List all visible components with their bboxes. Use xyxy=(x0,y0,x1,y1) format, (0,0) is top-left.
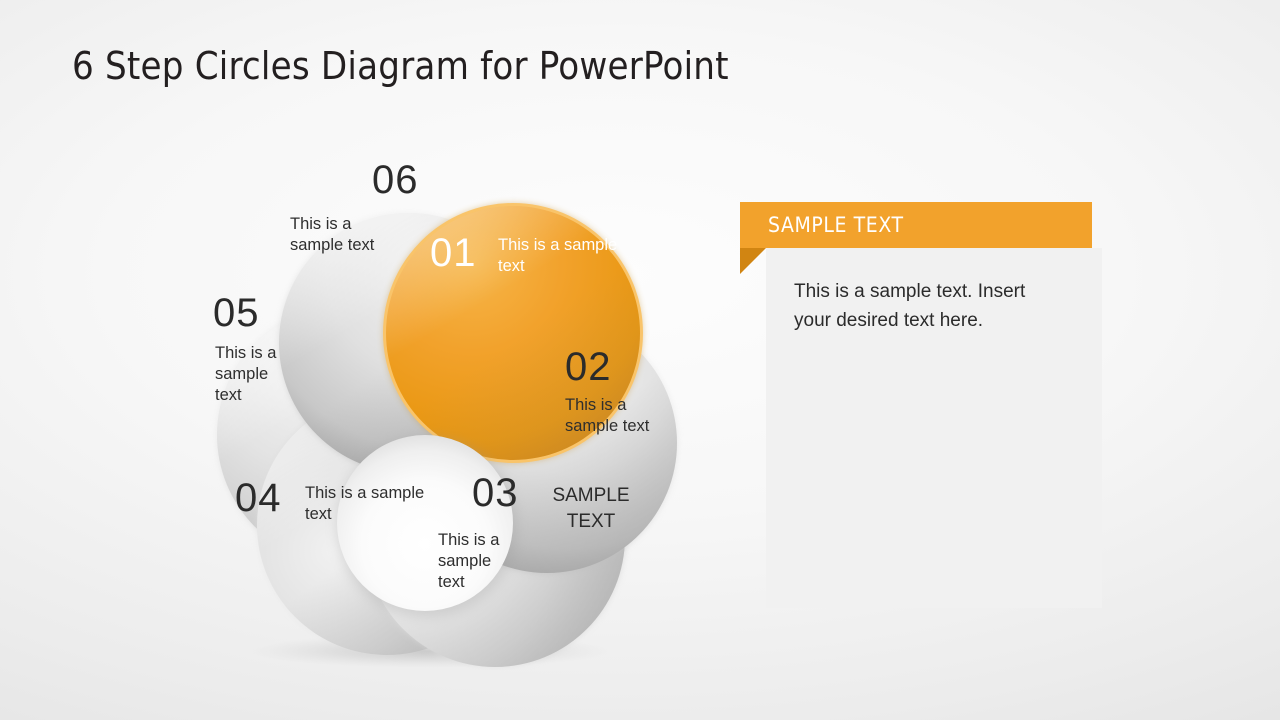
detail-panel: SAMPLE TEXT This is a sample text. Inser… xyxy=(740,200,1102,608)
diagram-svg xyxy=(165,125,695,670)
diagram-petal-01[interactable] xyxy=(383,203,643,463)
page-title: 6 Step Circles Diagram for PowerPoint xyxy=(72,44,729,88)
six-step-circles-diagram: 06 This is a sample text 01 This is a sa… xyxy=(165,125,695,670)
detail-panel-fold-corner xyxy=(740,248,766,274)
detail-panel-header[interactable]: SAMPLE TEXT xyxy=(740,202,1092,248)
detail-panel-header-label: SAMPLE TEXT xyxy=(768,213,904,237)
detail-panel-text: This is a sample text. Insert your desir… xyxy=(794,278,1052,336)
slide-canvas: 6 Step Circles Diagram for PowerPoint xyxy=(0,0,1280,720)
